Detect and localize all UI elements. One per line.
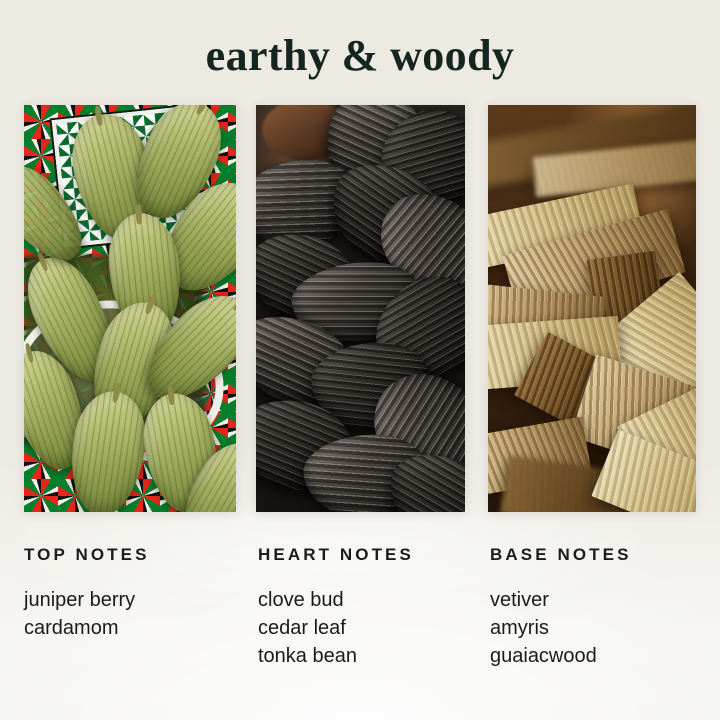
cardamom-pods-photo <box>24 105 236 512</box>
note-item: cardamom <box>24 614 150 642</box>
note-item: amyris <box>490 614 632 642</box>
note-item: clove bud <box>258 586 414 614</box>
column-heading-heart-notes: HEART NOTES <box>258 545 414 565</box>
palo-santo-wood-photo <box>488 105 696 512</box>
column-heading-base-notes: BASE NOTES <box>490 545 632 565</box>
image-panel-group <box>24 105 696 512</box>
page-title: earthy & woody <box>0 30 720 81</box>
note-item: guaiacwood <box>490 642 632 670</box>
tonka-beans-photo <box>256 105 465 512</box>
column-heading-top-notes: TOP NOTES <box>24 545 150 565</box>
notes-column-base: BASE NOTES vetiver amyris guaiacwood <box>490 545 632 670</box>
note-item: cedar leaf <box>258 614 414 642</box>
note-item: tonka bean <box>258 642 414 670</box>
note-item: vetiver <box>490 586 632 614</box>
notes-column-heart: HEART NOTES clove bud cedar leaf tonka b… <box>258 545 414 670</box>
note-item: juniper berry <box>24 586 150 614</box>
notes-column-top: TOP NOTES juniper berry cardamom <box>24 545 150 642</box>
